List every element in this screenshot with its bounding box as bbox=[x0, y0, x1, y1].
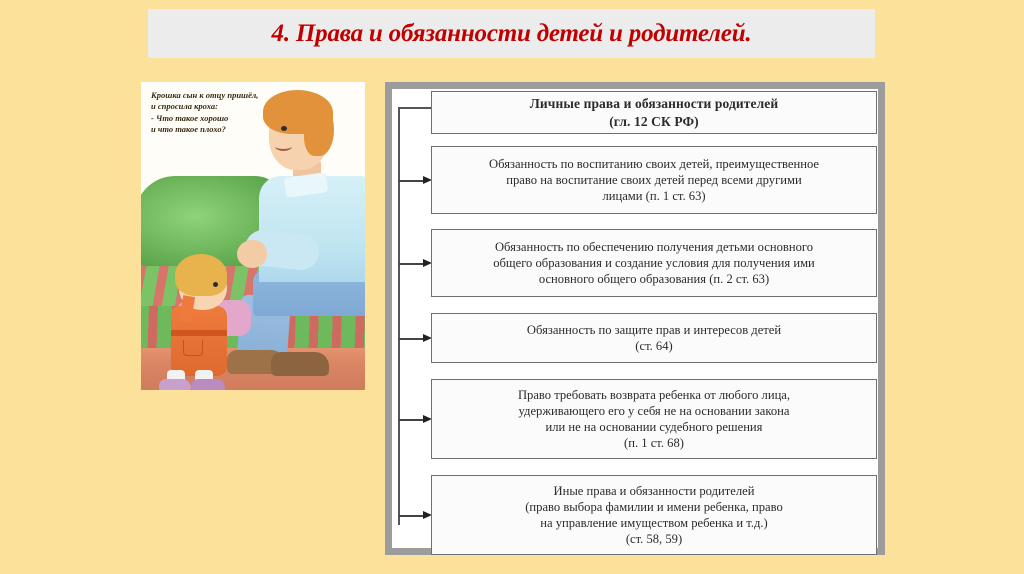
arrow-icon-1 bbox=[399, 176, 431, 185]
diagram-node-2: Обязанность по обеспечению получения дет… bbox=[431, 229, 877, 297]
diagram-header-text: Личные права и обязанности родителей (гл… bbox=[530, 95, 779, 130]
father-smile bbox=[275, 142, 292, 151]
child-shoe-left bbox=[159, 379, 191, 390]
child-hair bbox=[175, 254, 227, 296]
rights-and-duties-diagram: Личные права и обязанности родителей (гл… bbox=[385, 82, 885, 555]
illustration-caption: Крошка сын к отцу пришёл, и спросила кро… bbox=[151, 90, 291, 136]
page-title: 4. Права и обязанности детей и родителей… bbox=[272, 20, 752, 48]
diagram-node-2-text: Обязанность по обеспечению получения дет… bbox=[493, 239, 815, 287]
diagram-node-1-text: Обязанность по воспитанию своих детей, п… bbox=[489, 156, 819, 204]
child-pocket bbox=[183, 340, 203, 356]
child-belt bbox=[171, 330, 227, 336]
arrow-shaft bbox=[399, 419, 424, 421]
title-banner: 4. Права и обязанности детей и родителей… bbox=[148, 9, 875, 58]
diagram-node-3-text: Обязанность по защите прав и интересов д… bbox=[527, 322, 781, 354]
father-shoe-right bbox=[271, 352, 329, 376]
arrow-icon-4 bbox=[399, 415, 431, 424]
diagram-node-5: Иные права и обязанности родителей (прав… bbox=[431, 475, 877, 555]
connector-trunk-horizontal bbox=[398, 107, 431, 109]
child-eye bbox=[213, 282, 218, 287]
arrow-icon-5 bbox=[399, 511, 431, 520]
diagram-node-4-text: Право требовать возврата ребенка от любо… bbox=[518, 387, 790, 451]
arrow-shaft bbox=[399, 338, 424, 340]
arrow-icon-3 bbox=[399, 334, 431, 343]
father-and-son-illustration: Крошка сын к отцу пришёл, и спросила кро… bbox=[141, 82, 365, 390]
father-hand bbox=[237, 240, 267, 268]
diagram-node-5-text: Иные права и обязанности родителей (прав… bbox=[525, 483, 783, 547]
arrow-shaft bbox=[399, 263, 424, 265]
diagram-node-3: Обязанность по защите прав и интересов д… bbox=[431, 313, 877, 363]
diagram-header-box: Личные права и обязанности родителей (гл… bbox=[431, 91, 877, 134]
arrow-icon-2 bbox=[399, 259, 431, 268]
diagram-node-4: Право требовать возврата ребенка от любо… bbox=[431, 379, 877, 459]
diagram-node-1: Обязанность по воспитанию своих детей, п… bbox=[431, 146, 877, 214]
arrow-shaft bbox=[399, 515, 424, 517]
child-shoe-right bbox=[191, 379, 225, 390]
father-hair-back bbox=[304, 102, 334, 156]
arrow-shaft bbox=[399, 180, 424, 182]
connector-trunk-vertical bbox=[398, 107, 400, 525]
